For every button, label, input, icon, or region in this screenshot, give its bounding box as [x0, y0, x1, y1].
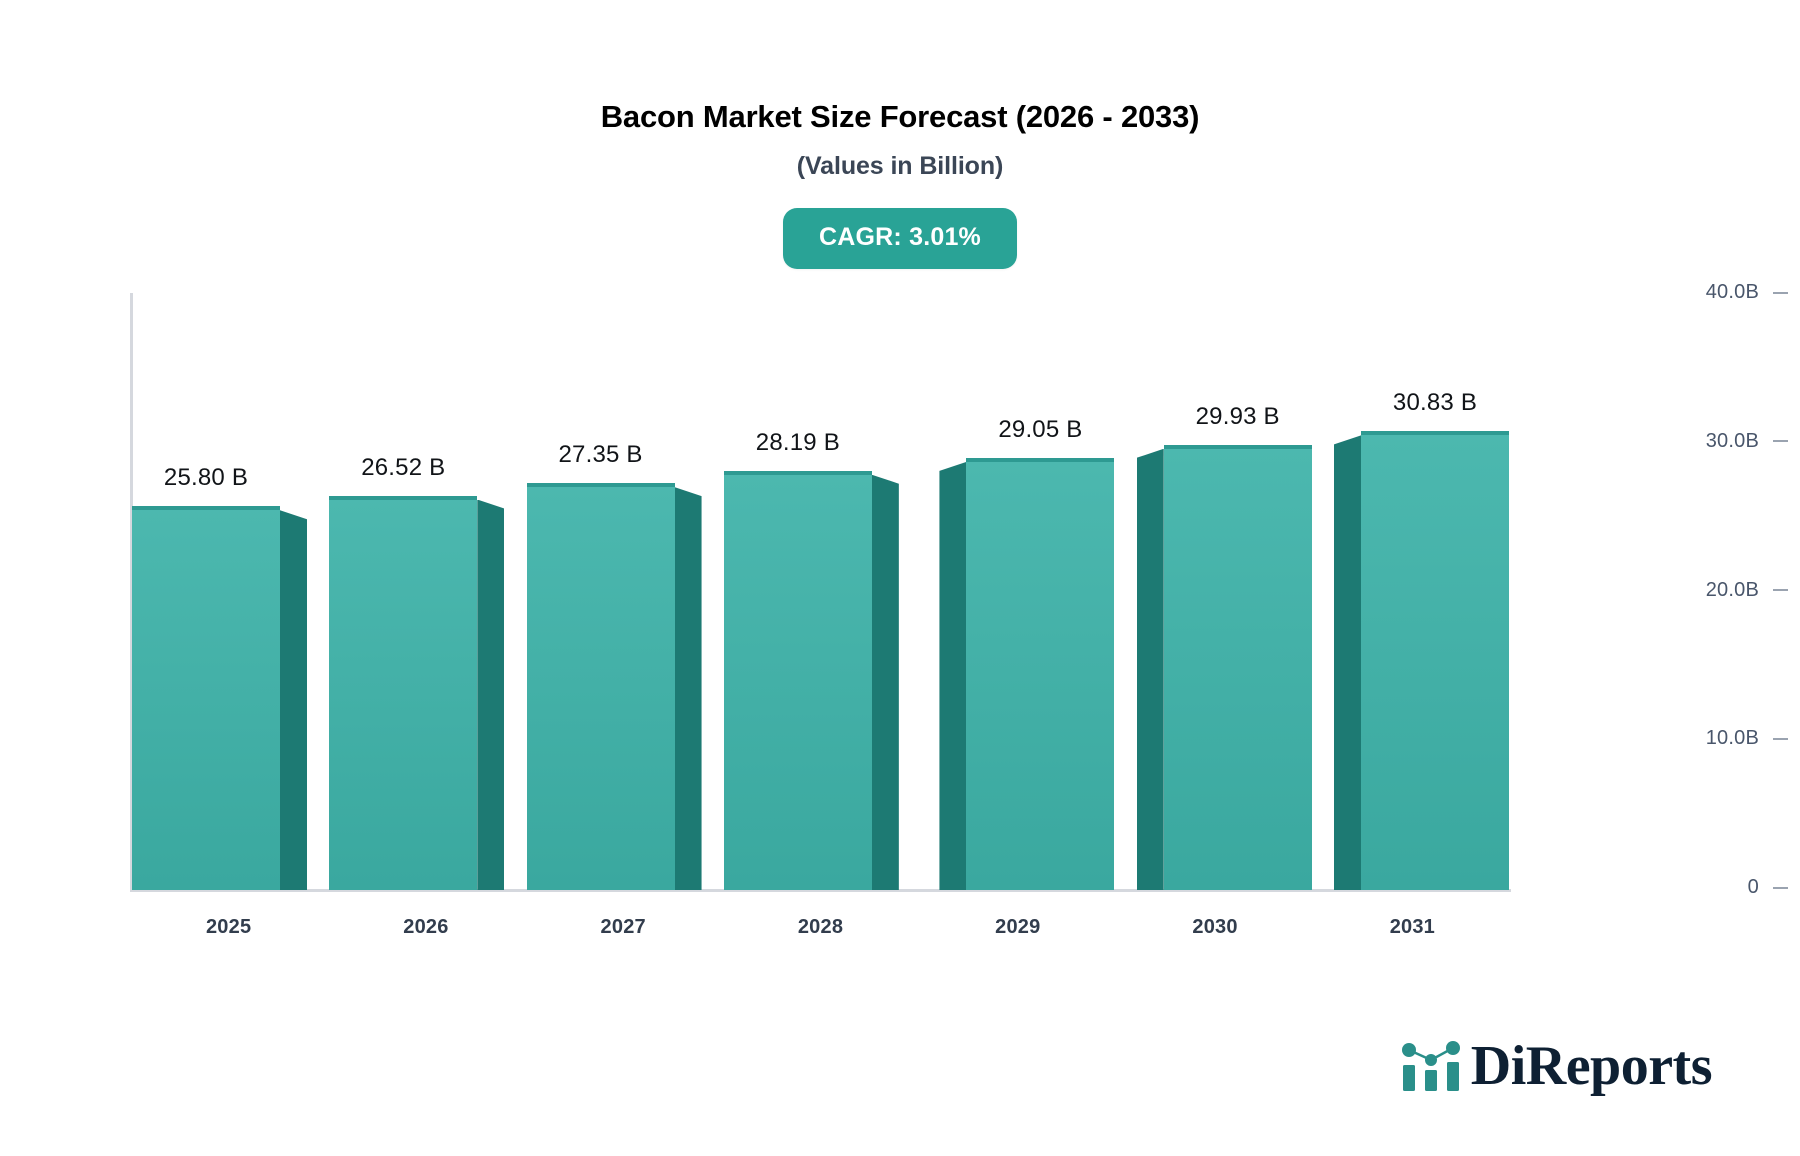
bar-face — [966, 458, 1114, 890]
bar-2025[interactable]: 25.80 B — [132, 506, 280, 890]
bar-3d-side — [939, 462, 966, 890]
bar-chart-trend-icon — [1400, 1038, 1462, 1094]
bar-2027[interactable]: 27.35 B — [527, 483, 675, 890]
x-axis-tick-label-2028: 2028 — [731, 916, 911, 939]
y-axis-tick-dash — [1773, 440, 1788, 442]
bar-value-label: 27.35 B — [527, 441, 675, 469]
bar-value-label: 28.19 B — [724, 429, 872, 457]
bar-2026[interactable]: 26.52 B — [329, 496, 477, 890]
bar-face — [132, 506, 280, 890]
y-axis-tick-dash — [1773, 738, 1788, 740]
bar-face — [1361, 431, 1509, 890]
brand-logo-text: DiReports — [1471, 1038, 1712, 1094]
bar-top-bevel — [1361, 431, 1509, 435]
y-axis-tick-dash — [1773, 292, 1788, 294]
x-axis-tick-label-2026: 2026 — [336, 916, 516, 939]
bar-value-label: 29.05 B — [966, 416, 1114, 444]
x-axis-tick-label-2031: 2031 — [1322, 916, 1502, 939]
bar-3d-side — [675, 487, 702, 890]
y-axis-tick-dash — [1773, 589, 1788, 591]
bar-face — [527, 483, 675, 890]
bar-value-label: 29.93 B — [1164, 403, 1312, 431]
bar-3d-side — [1334, 435, 1361, 890]
y-axis-tick-label: 0 — [1748, 876, 1759, 899]
y-axis-tick-label: 20.0B — [1706, 579, 1759, 602]
bar-2031[interactable]: 30.83 B — [1361, 431, 1509, 890]
bar-top-bevel — [329, 496, 477, 500]
x-axis-tick-label-2030: 2030 — [1125, 916, 1305, 939]
bar-top-bevel — [1164, 445, 1312, 449]
bar-face — [329, 496, 477, 890]
brand-logo: DiReports — [1400, 1038, 1712, 1094]
bar-face — [724, 471, 872, 890]
bar-chart-plot-area: 40.0B30.0B20.0B10.0B0 25.80 B26.52 B27.3… — [0, 0, 1800, 1156]
bar-3d-side — [477, 500, 504, 890]
y-axis-tick: 20.0B — [1670, 579, 1800, 602]
y-axis-tick-label: 40.0B — [1706, 281, 1759, 304]
bar-face — [1164, 445, 1312, 890]
bar-value-label: 26.52 B — [329, 454, 477, 482]
bar-3d-side — [872, 475, 899, 890]
x-axis-tick-label-2029: 2029 — [928, 916, 1108, 939]
bar-top-bevel — [724, 471, 872, 475]
bar-top-bevel — [132, 506, 280, 510]
y-axis-tick: 0 — [1670, 876, 1800, 899]
bar-2028[interactable]: 28.19 B — [724, 471, 872, 890]
bar-value-label: 30.83 B — [1361, 389, 1509, 417]
bar-top-bevel — [966, 458, 1114, 462]
bar-3d-side — [1137, 449, 1164, 890]
bar-3d-side — [280, 510, 307, 890]
bar-2029[interactable]: 29.05 B — [966, 458, 1114, 890]
y-axis-tick: 10.0B — [1670, 727, 1800, 750]
bar-2030[interactable]: 29.93 B — [1164, 445, 1312, 890]
bar-value-label: 25.80 B — [132, 464, 280, 492]
y-axis-tick: 40.0B — [1670, 281, 1800, 304]
y-axis-tick-label: 30.0B — [1706, 430, 1759, 453]
y-axis-tick-label: 10.0B — [1706, 727, 1759, 750]
bar-top-bevel — [527, 483, 675, 487]
y-axis-tick-dash — [1773, 887, 1788, 889]
x-axis-tick-label-2027: 2027 — [533, 916, 713, 939]
y-axis-tick: 30.0B — [1670, 430, 1800, 453]
x-axis-tick-label-2025: 2025 — [139, 916, 319, 939]
